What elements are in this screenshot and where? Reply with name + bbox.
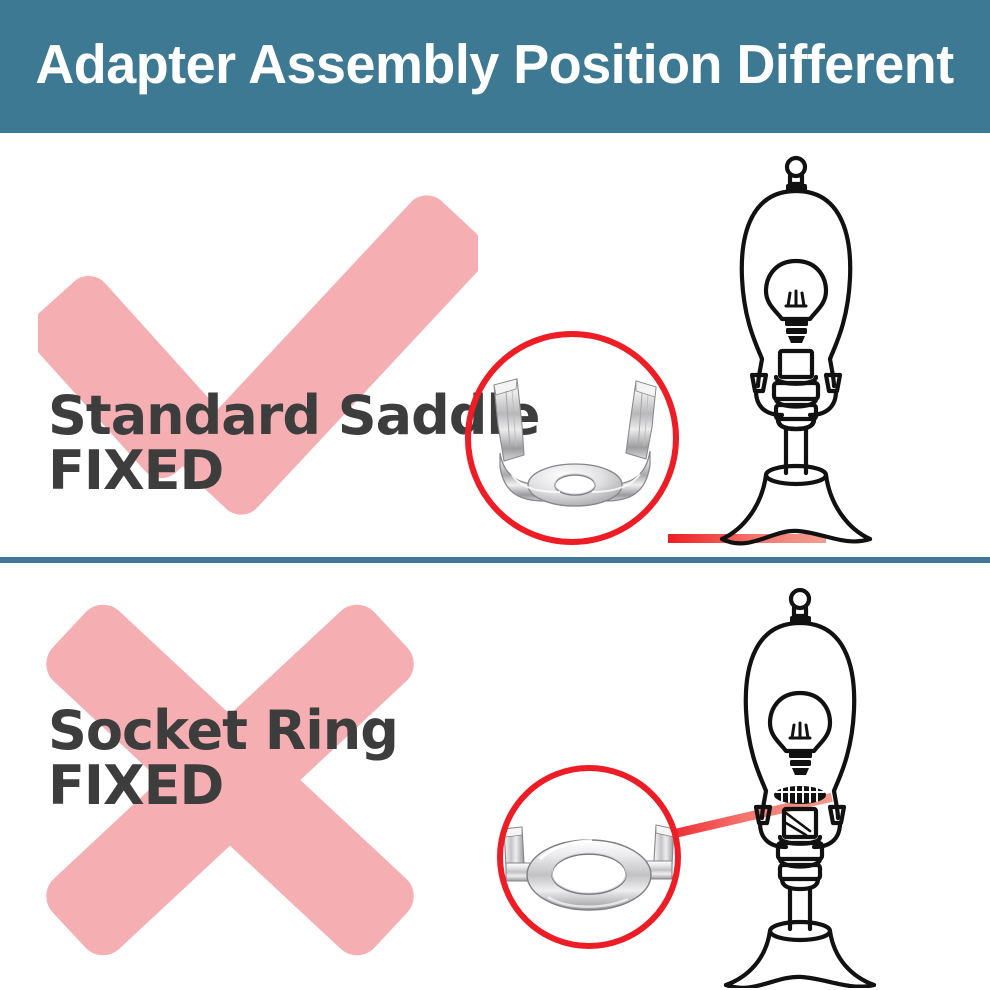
socket-ring-adapter-icon [774,786,826,804]
panel-bottom-headline: Socket Ring FIXED [48,703,398,813]
callout-socket-ring [492,759,692,959]
finial-icon [791,590,809,608]
page-title: Adapter Assembly Position Different [36,32,954,96]
infographic-poster: Adapter Assembly Position Different Stan… [0,0,990,990]
lamp-diagram-socket-ring [690,573,990,988]
callout-standard-saddle [460,325,690,555]
finial-icon [787,158,805,176]
lamp-diagram-standard-saddle [700,143,990,553]
header-banner: Adapter Assembly Position Different [0,0,990,133]
socket-ring-part-image [504,825,674,910]
panel-standard-saddle: Standard Saddle FIXED [0,133,990,557]
panel-socket-ring: Socket Ring FIXED [0,563,990,990]
saddle-part-image [494,379,656,506]
